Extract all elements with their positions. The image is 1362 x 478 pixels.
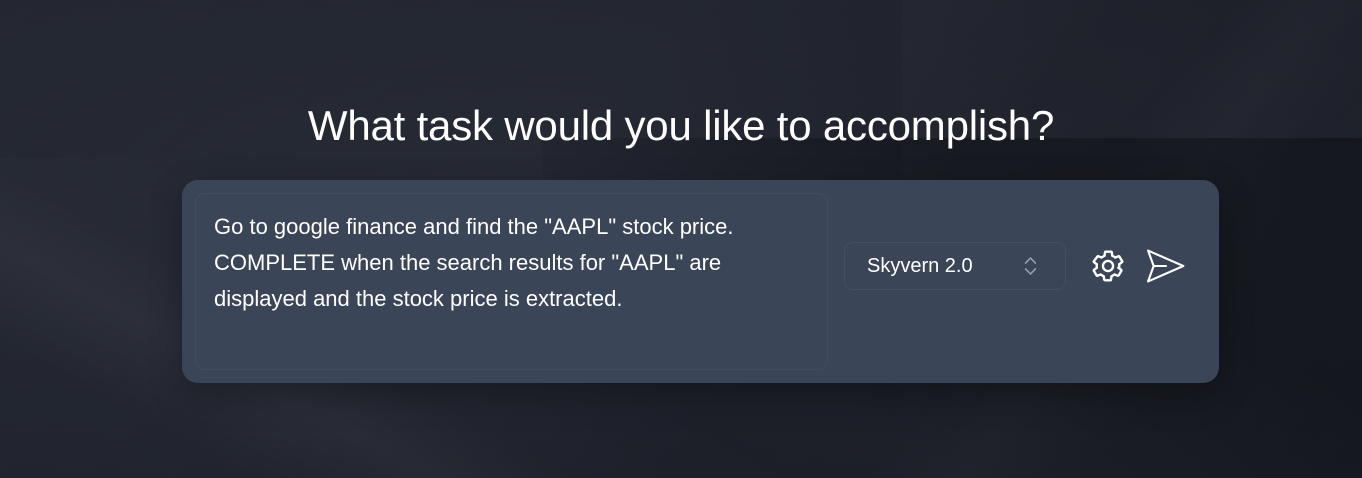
send-button[interactable] bbox=[1140, 242, 1192, 290]
prompt-card: Skyvern 2.0 bbox=[182, 180, 1219, 383]
task-prompt-input[interactable] bbox=[195, 193, 828, 370]
prompt-card-controls: Skyvern 2.0 bbox=[844, 242, 1192, 290]
chevron-up-down-icon bbox=[1024, 257, 1037, 276]
send-icon bbox=[1145, 247, 1187, 285]
model-selector-value: Skyvern 2.0 bbox=[867, 254, 973, 278]
model-selector[interactable]: Skyvern 2.0 bbox=[844, 242, 1066, 290]
page-title: What task would you like to accomplish? bbox=[0, 100, 1362, 152]
gear-icon bbox=[1089, 247, 1127, 285]
settings-button[interactable] bbox=[1082, 242, 1134, 290]
app-screen: What task would you like to accomplish? … bbox=[0, 0, 1362, 478]
